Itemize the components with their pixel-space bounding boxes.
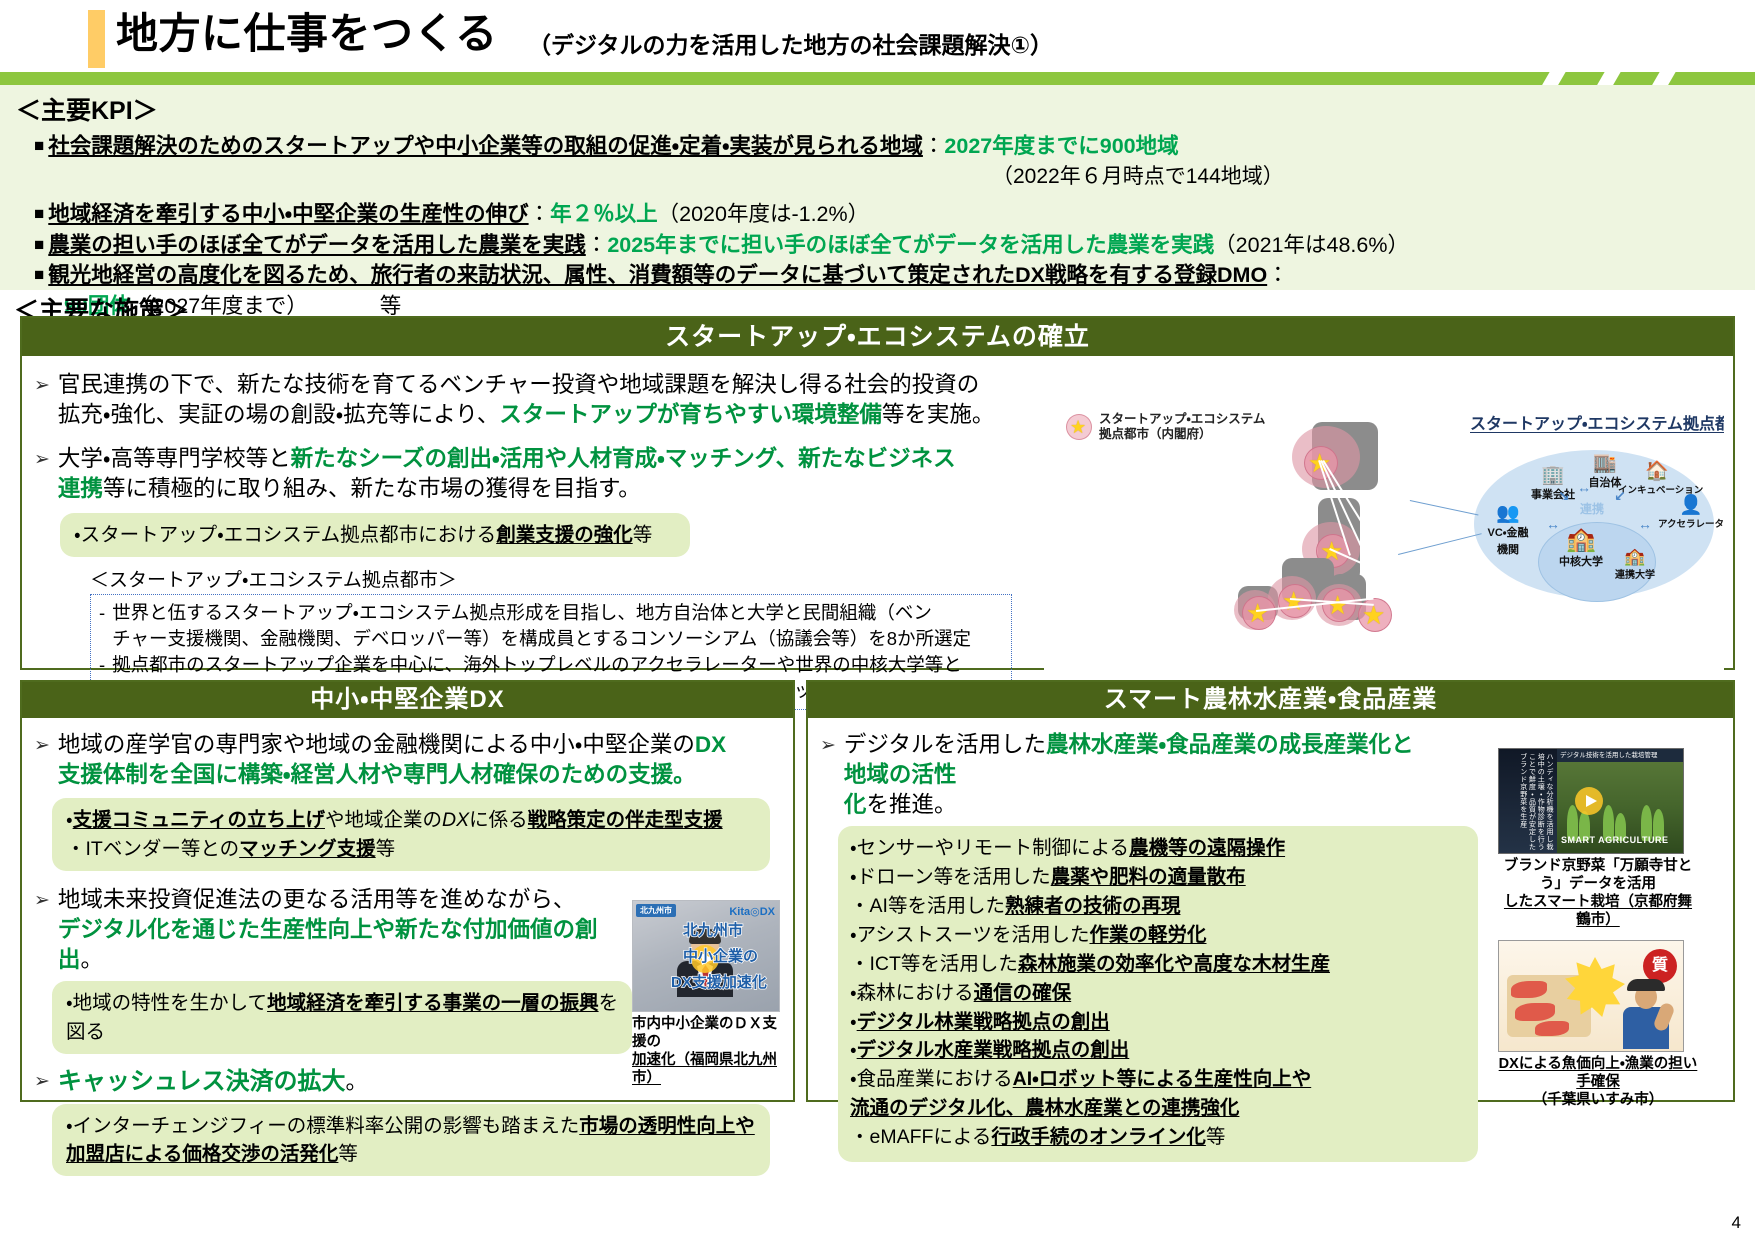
arrow-icon: ↘ <box>1558 488 1570 505</box>
sme-photo-thumbnail: 北九州市 Kita◎DX 北九州市 中小企業の DX支援加速化 <box>632 900 780 1012</box>
rule-slash-3 <box>1648 72 1678 85</box>
kpi-item-3-note: （2021年は48.6%） <box>1214 233 1409 257</box>
c3-em1: 市場の透明性向上や <box>579 1115 755 1137</box>
japan-map-illustration: ★ ★ ★ ★ ★ ★ <box>1234 398 1464 670</box>
arrow-bullet-icon: ➢ <box>34 730 50 790</box>
startup-dotted-item-1-line1: 世界と伍するスタートアップ・エコシステム拠点形成を目指し、地方自治体と大学と民間… <box>112 602 932 623</box>
agri-bullet-1-line1a: デジタルを活用した <box>844 732 1046 757</box>
agri-photo-1: ハンディな分析機を活用し栽培中の土壌・作物診断を行うことで鮮度・品質が安定したブ… <box>1498 748 1684 854</box>
businessperson-icon: 👤 <box>1658 496 1724 515</box>
kpi-item-2: ■地域経済を牽引する中小・中堅企業の生産性の伸び：年２％以上（2020年度は-1… <box>34 199 1755 230</box>
c1b-bullet: ・ <box>66 838 86 860</box>
agri-list-item: ・ドローン等を活用した農薬や肥料の適量散布 <box>850 863 1466 892</box>
rule-slash-2 <box>1593 72 1623 85</box>
agri-item-8-bullet: ・ <box>850 1068 857 1090</box>
sme-bullet-1-line1b: DX <box>695 732 726 757</box>
startup-bullet-2-line1a: 大学・高等専門学校等と <box>58 446 291 471</box>
arrow-icon: ↕ <box>1578 487 1594 494</box>
kita-dx-logo: Kita◎DX <box>729 905 775 918</box>
office-buildings-icon-group: 🏢 事業会社 <box>1520 466 1586 502</box>
agri-bullet-1-line2c: を推進。 <box>866 792 956 817</box>
sme-bullet-1: ➢ 地域の産学官の専門家や地域の金融機関による中小・中堅企業のDX 支援体制を全… <box>34 730 781 790</box>
kpi-item-3: ■農業の担い手のほぼ全てがデータを活用した農業を実践：2025年までに担い手のほ… <box>34 230 1755 261</box>
agri-list-item: 流通のデジタル化、農林水産業との連携強化 <box>850 1094 1466 1123</box>
c1b-plain: ITベンダー等との <box>86 838 240 860</box>
house-icon-group: 🏠 インキュベーション <box>1618 462 1696 496</box>
agri-item-1-em: 農薬や肥料の適量散布 <box>1051 866 1246 888</box>
agri-item-8-plain: 食品産業における <box>857 1068 1013 1090</box>
kpi-item-4-tail: 等 <box>380 294 402 318</box>
agri-photo-2-caption-line2: （千葉県いすみ市） <box>1533 1092 1664 1108</box>
arrow-bullet-icon: ➢ <box>34 885 50 975</box>
ecosystem-center-label: 連携 <box>1580 500 1604 517</box>
bullet-square-icon: ■ <box>34 136 44 155</box>
panel-startup-body: ➢ 官民連携の下で、新たな技術を育てるベンチャー投資や地域課題を解決し得る社会的… <box>22 356 1733 720</box>
agri-bullet-1: ➢ デジタルを活用した農林水産業・食品産業の成長産業化と地域の活性 化を推進。 <box>820 730 1420 820</box>
c2-plain: 地域の特性を生かして <box>73 992 267 1014</box>
label-partner-univ: 連携大学 <box>1604 566 1666 581</box>
rule-slash-1 <box>1538 72 1568 85</box>
agri-item-9-em: 流通のデジタル化、農林水産業との連携強化 <box>850 1097 1239 1119</box>
agri-item-8-em: AI・ロボット等による生産性向上や <box>1013 1068 1312 1090</box>
startup-bullet-2-line2b: 連携 <box>58 476 103 501</box>
kpi-item-4-lead: 観光地経営の高度化を図るため、旅行者の来訪状況、属性、消費額等のデータに基づいて… <box>48 263 1267 287</box>
school-icon: 🏫 <box>1604 548 1666 565</box>
panel-sme-body: ➢ 地域の産学官の専門家や地域の金融機関による中小・中堅企業のDX 支援体制を全… <box>22 718 793 1186</box>
kpi-section: ＜主要KPI＞ ■社会課題解決のためのスタートアップや中小企業等の取組の促進・定… <box>0 85 1755 290</box>
c1b-tail: 等 <box>376 838 396 860</box>
c3-plain: インターチェンジフィーの標準料率公開の影響も踏まえた <box>73 1115 580 1137</box>
agri-callout-list: ・センサーやリモート制御による農機等の遠隔操作 ・ドローン等を活用した農薬や肥料… <box>838 826 1478 1161</box>
agri-list-item: ・森林における通信の確保 <box>850 979 1466 1008</box>
agri-photo-1-top-text: デジタル技術を活用した栽培管理 <box>1557 749 1684 762</box>
sme-callout-3-line-1: ・インターチェンジフィーの標準料率公開の影響も踏まえた市場の透明性向上や <box>66 1112 756 1140</box>
startup-callout: ・スタートアップ・エコシステム拠点都市における創業支援の強化等 <box>60 513 690 557</box>
kpi-item-4: ■観光地経営の高度化を図るため、旅行者の来訪状況、属性、消費額等のデータに基づい… <box>34 260 1755 291</box>
arrow-bullet-icon: ➢ <box>34 370 50 430</box>
kpi-item-1-sep: ： <box>923 134 945 158</box>
c3-em2: 加盟店による価格交渉の活発化 <box>66 1143 338 1165</box>
sme-callout-2: ・地域の特性を生かして地域経済を牽引する事業の一層の振興を 図る <box>52 981 632 1054</box>
sme-callout-2-line-2: 図る <box>66 1018 618 1046</box>
star-marker-icon: ★ <box>1066 414 1092 440</box>
people-chart-icon: 👥 <box>1472 504 1544 523</box>
sme-callout-3-line-2: 加盟店による価格交渉の活発化等 <box>66 1140 756 1168</box>
arrow-icon: ↙ <box>1614 488 1626 505</box>
agri-photo-1-caption: ブランド京野菜「万願寺甘とう」データを活用 したスマート栽培（京都府舞鶴市） <box>1498 857 1698 930</box>
startup-bullet-2-line1b: 新たなシーズの創出・活用や人材育成・マッチング、新たなビジネス <box>291 446 956 471</box>
c1-bullet: ・ <box>66 809 73 831</box>
arrow-icon: ↔ <box>1546 516 1560 532</box>
label-company: 事業会社 <box>1520 486 1586 502</box>
agri-item-4-plain: ICT等を活用した <box>870 953 1018 975</box>
sme-bullet-1-line1a: 地域の産学官の専門家や地域の金融機関による中小・中堅企業の <box>58 732 695 757</box>
house-icon: 🏠 <box>1618 462 1696 481</box>
sme-callout-1-line-2: ・ITベンダー等とのマッチング支援等 <box>66 835 756 863</box>
sme-bullet-3-tail: 。 <box>345 1069 368 1094</box>
agri-list-item: ・デジタル林業戦略拠点の創出 <box>850 1008 1466 1037</box>
sme-photo-overlay-2: 中小企業の <box>683 945 758 966</box>
sme-bullet-2-line1: 地域未来投資促進法の更なる活用等を進めながら、 <box>58 887 576 912</box>
startup-illustration: ★ スタートアップ・エコシステム 拠点都市（内閣府） ★ ★ <box>1044 398 1724 670</box>
label-accelerator: アクセラレーター <box>1658 516 1724 530</box>
panel-startup-heading: スタートアップ・エコシステムの確立 <box>22 318 1733 356</box>
kpi-item-2-sep: ： <box>529 202 551 226</box>
fisherman-icon <box>1617 977 1675 1049</box>
bullet-square-icon: ■ <box>34 235 44 254</box>
sme-callout-2-line-1: ・地域の特性を生かして地域経済を牽引する事業の一層の振興を <box>66 989 618 1017</box>
play-button-icon[interactable] <box>1575 787 1603 815</box>
agri-item-6-bullet: ・ <box>850 1011 857 1033</box>
bullet-square-icon: ■ <box>34 204 44 223</box>
agri-item-7-bullet: ・ <box>850 1039 857 1061</box>
page-number: 4 <box>1732 1213 1741 1233</box>
agri-item-0-em: 農機等の遠隔操作 <box>1129 837 1285 859</box>
startup-bullet-1-line1: 官民連携の下で、新たな技術を育てるベンチャー投資や地域課題を解決し得る社会的投資… <box>58 372 979 397</box>
agri-list-item: ・eMAFFによる行政手続のオンライン化等 <box>850 1123 1466 1152</box>
kpi-item-1: ■社会課題解決のためのスタートアップや中小企業等の取組の促進・定着・実装が見られ… <box>34 131 1755 162</box>
dash-bullet-icon: - <box>99 600 105 652</box>
c1-mid: や地域企業の <box>325 809 442 831</box>
sme-callout-1: ・支援コミュニティの立ち上げや地域企業のDXに係る戦略策定の伴走型支援 ・ITベ… <box>52 798 770 871</box>
startup-dotted-item-1: - 世界と伍するスタートアップ・エコシステム拠点形成を目指し、地方自治体と大学と… <box>99 600 1003 652</box>
header-green-rule <box>0 72 1755 85</box>
agri-photo-card-1: ハンディな分析機を活用し栽培中の土壌・作物診断を行うことで鮮度・品質が安定したブ… <box>1498 748 1698 930</box>
title-accent-bar <box>88 10 105 68</box>
startup-bullet-1-line2c: 等を実施。 <box>882 402 995 427</box>
panel-smart-agriculture: スマート農林水産業・食品産業 ➢ デジタルを活用した農林水産業・食品産業の成長産… <box>806 680 1735 1102</box>
agri-item-3-bullet: ・ <box>850 924 857 946</box>
c3-tail: 等 <box>338 1143 358 1165</box>
agri-list-item: ・アシストスーツを活用した作業の軽労化 <box>850 921 1466 950</box>
office-buildings-icon: 🏢 <box>1520 466 1586 485</box>
startup-bullet-2-line2c: 等に積極的に取り組み、新たな市場の獲得を目指す。 <box>103 476 641 501</box>
kpi-item-4-sep: ： <box>1267 263 1289 287</box>
agri-item-5-bullet: ・ <box>850 982 857 1004</box>
kpi-item-2-target: 年２％以上 <box>550 202 658 226</box>
star-marker-icon: ★ <box>1322 588 1356 622</box>
sme-photo-caption-line2: 加速化（福岡県北九州市） <box>632 1052 777 1086</box>
agri-item-1-bullet: ・ <box>850 866 857 888</box>
agri-item-10-tail: 等 <box>1206 1126 1226 1148</box>
startup-callout-prefix: ・スタートアップ・エコシステム拠点都市における <box>74 524 496 546</box>
kpi-section-label: ＜主要KPI＞ <box>16 91 1755 127</box>
agri-photo-1-side-panel: ハンディな分析機を活用し栽培中の土壌・作物診断を行うことで鮮度・品質が安定したブ… <box>1499 749 1557 854</box>
school-icon-group: 🏫 連携大学 <box>1604 548 1666 581</box>
agri-photo-1-caption-line2: したスマート栽培（京都府舞鶴市） <box>1504 894 1692 928</box>
startup-dotted-item-1-line2: チャー支援機関、金融機関、デベロッパー等）を構成員とするコンソーシアム（協議会等… <box>112 628 971 649</box>
panel-agri-body: ➢ デジタルを活用した農林水産業・食品産業の成長産業化と地域の活性 化を推進。 … <box>808 718 1733 1172</box>
agri-item-5-plain: 森林における <box>857 982 974 1004</box>
sme-bullet-2: ➢ 地域未来投資促進法の更なる活用等を進めながら、 デジタル化を通じた生産性向上… <box>34 885 634 975</box>
agri-photo-1-caption-line1: ブランド京野菜「万願寺甘とう」データを活用 <box>1504 858 1693 892</box>
agri-photo-2-caption-line1: DXによる魚価向上・漁業の担い手確保 <box>1499 1056 1698 1090</box>
agri-list-item: ・デジタル水産業戦略拠点の創出 <box>850 1036 1466 1065</box>
slide-root: 地方に仕事をつくる （デジタルの力を活用した地方の社会課題解決①） ＜主要KPI… <box>0 0 1755 1241</box>
ecosystem-diagram: スタートアップ・エコシステム拠点都市 👥 VC・金融 機関 🏢 事業会社 🏬 <box>1462 404 1724 664</box>
agri-photo-2-caption: DXによる魚価向上・漁業の担い手確保 （千葉県いすみ市） <box>1498 1055 1698 1109</box>
startup-dotted-item-1-text: 世界と伍するスタートアップ・エコシステム拠点形成を目指し、地方自治体と大学と民間… <box>112 600 1003 652</box>
agri-list-item: ・食品産業におけるAI・ロボット等による生産性向上や <box>850 1065 1466 1094</box>
agri-photo-2: 質 <box>1498 940 1684 1052</box>
panel-sme-dx: 中小・中堅企業DX ➢ 地域の産学官の専門家や地域の金融機関による中小・中堅企業… <box>20 680 795 1102</box>
kpi-item-3-sep: ： <box>586 233 608 257</box>
sme-photo-overlay-3: DX支援加速化 <box>671 971 767 992</box>
agri-item-6-em: デジタル林業戦略拠点の創出 <box>857 1011 1110 1033</box>
arrow-icon: ↔ <box>1638 516 1652 532</box>
agri-item-4-bullet: ・ <box>850 953 870 975</box>
agri-item-10-plain: eMAFFによる <box>870 1126 992 1148</box>
agri-item-10-em: 行政手続のオンライン化 <box>991 1126 1206 1148</box>
agri-item-3-plain: アシストスーツを活用した <box>857 924 1090 946</box>
sme-bullet-1-text: 地域の産学官の専門家や地域の金融機関による中小・中堅企業のDX 支援体制を全国に… <box>58 730 781 790</box>
sme-photo-caption-line1: 市内中小企業のＤＸ支援の <box>632 1016 777 1050</box>
agri-item-3-em: 作業の軽労化 <box>1089 924 1206 946</box>
panel-agri-heading: スマート農林水産業・食品産業 <box>808 682 1733 718</box>
panel-sme-heading: 中小・中堅企業DX <box>22 682 793 718</box>
sme-photo-card: 北九州市 Kita◎DX 北九州市 中小企業の DX支援加速化 市内中小企業のＤ… <box>632 900 784 1088</box>
kpi-item-1-target: 2027年度までに900地域 <box>944 134 1178 158</box>
sme-bullet-1-line2b: 支援体制を全国に構築・経営人材や専門人材確保のための支援。 <box>58 762 696 787</box>
arrow-bullet-icon: ➢ <box>34 1066 50 1098</box>
page-subtitle: （デジタルの力を活用した地方の社会課題解決①） <box>528 26 1053 60</box>
bullet-square-icon: ■ <box>34 265 44 284</box>
agri-item-7-em: デジタル水産業戦略拠点の創出 <box>857 1039 1130 1061</box>
arrow-bullet-icon: ➢ <box>34 444 50 504</box>
kpi-item-2-note: （2020年度は-1.2%） <box>658 202 870 226</box>
c1-ital: DX <box>442 809 469 831</box>
kpi-item-2-lead: 地域経済を牽引する中小・中堅企業の生産性の伸び <box>48 202 528 226</box>
people-chart-icon-group: 👥 VC・金融 機関 <box>1472 504 1544 557</box>
kpi-item-1-note: （2022年６月時点で144地域） <box>992 162 1755 192</box>
agri-photo-1-top-strip: デジタル技術を活用した栽培管理 <box>1557 749 1684 762</box>
kitakyushu-badge: 北九州市 <box>636 904 676 917</box>
ecosystem-diagram-title: スタートアップ・エコシステム拠点都市 <box>1470 410 1720 434</box>
agri-list-item: ・センサーやリモート制御による農機等の遠隔操作 <box>850 834 1466 863</box>
agri-list-item: ・AI等を活用した熟練者の技術の再現 <box>850 892 1466 921</box>
agri-item-4-em: 森林施業の効率化や高度な木材生産 <box>1018 953 1330 975</box>
label-incubation: インキュベーション <box>1618 482 1696 496</box>
agri-list-item: ・ICT等を活用した森林施業の効率化や高度な木材生産 <box>850 950 1466 979</box>
c1-mid2: に係る <box>469 809 528 831</box>
sme-bullet-2-line2b: デジタル化を通じた生産性向上や新たな付加価値の創出 <box>58 917 598 972</box>
kpi-item-1-lead: 社会課題解決のためのスタートアップや中小企業等の取組の促進・定着・実装が見られる… <box>48 134 923 158</box>
c2-bullet: ・ <box>66 992 73 1014</box>
sme-bullet-2-text: 地域未来投資促進法の更なる活用等を進めながら、 デジタル化を通じた生産性向上や新… <box>58 885 634 975</box>
label-vc-2: 機関 <box>1472 541 1544 557</box>
agri-bullet-1-line2b: 化 <box>844 792 867 817</box>
agri-photo-card-2: 質 DXによる魚価向上・漁業の担い手確保 （千葉県いすみ市） <box>1498 940 1698 1109</box>
star-marker-icon: ★ <box>1242 596 1276 630</box>
legend-line-2: 拠点都市（内閣府） <box>1099 427 1212 441</box>
c3-bullet: ・ <box>66 1115 73 1137</box>
startup-callout-suffix: 等 <box>633 524 653 546</box>
sme-photo-overlay-1: 北九州市 <box>683 919 743 940</box>
c1-em2: 戦略策定の伴走型支援 <box>528 809 723 831</box>
agri-bullet-1-text: デジタルを活用した農林水産業・食品産業の成長産業化と地域の活性 化を推進。 <box>844 730 1420 820</box>
kpi-item-3-lead: 農業の担い手のほぼ全てがデータを活用した農業を実践 <box>48 233 586 257</box>
kpi-item-3-target: 2025年までに担い手のほぼ全てがデータを活用した農業を実践 <box>607 233 1214 257</box>
startup-dotted-item-2-line1: 拠点都市のスタートアップ企業を中心に、海外トップレベルのアクセラレーターや世界の… <box>112 654 962 675</box>
sme-photo-caption: 市内中小企業のＤＸ支援の 加速化（福岡県北九州市） <box>632 1015 784 1088</box>
c2-tail: を <box>599 992 619 1014</box>
sme-callout-1-line-1: ・支援コミュニティの立ち上げや地域企業のDXに係る戦略策定の伴走型支援 <box>66 806 756 834</box>
agri-item-1-plain: ドローン等を活用した <box>857 866 1051 888</box>
sme-bullet-2-line2c: 。 <box>80 947 103 972</box>
startup-bullet-1-line2b: スタートアップが育ちやすい環境整備 <box>499 402 882 427</box>
agri-item-2-bullet: ・ <box>850 895 870 917</box>
c1-em1: 支援コミュニティの立ち上げ <box>73 809 325 831</box>
page-title: 地方に仕事をつくる <box>116 8 498 61</box>
panel-startup-ecosystem: スタートアップ・エコシステムの確立 ➢ 官民連携の下で、新たな技術を育てるベンチ… <box>20 316 1735 670</box>
c2-em: 地域経済を牽引する事業の一層の振興 <box>267 992 599 1014</box>
agri-item-2-plain: AI等を活用した <box>870 895 1005 917</box>
agri-photo-1-side-text: ハンディな分析機を活用し栽培中の土壌・作物診断を行うことで鮮度・品質が安定したブ… <box>1503 753 1553 851</box>
label-vc: VC・金融 <box>1472 524 1544 540</box>
agri-item-0-bullet: ・ <box>850 837 857 859</box>
startup-bullet-1-line2a: 拡充・強化、実証の場の創設・拡充等により、 <box>58 402 499 427</box>
agri-item-10-bullet: ・ <box>850 1126 870 1148</box>
agri-item-2-em: 熟練者の技術の再現 <box>1005 895 1181 917</box>
startup-callout-emphasis: 創業支援の強化 <box>496 524 633 546</box>
c1b-em1: マッチング支援 <box>239 838 376 860</box>
agri-item-5-em: 通信の確保 <box>974 982 1072 1004</box>
agri-item-0-plain: センサーやリモート制御による <box>857 837 1129 859</box>
sme-bullet-3-main: キャッシュレス決済の拡大 <box>58 1068 346 1095</box>
businessperson-icon-group: 👤 アクセラレーター <box>1658 496 1724 530</box>
arrow-bullet-icon: ➢ <box>820 730 836 820</box>
sme-callout-3: ・インターチェンジフィーの標準料率公開の影響も踏まえた市場の透明性向上や 加盟店… <box>52 1104 770 1177</box>
agri-photo-1-overlay-title: SMART AGRICULTURE <box>1561 835 1669 845</box>
slide-header: 地方に仕事をつくる （デジタルの力を活用した地方の社会課題解決①） <box>0 0 1755 78</box>
